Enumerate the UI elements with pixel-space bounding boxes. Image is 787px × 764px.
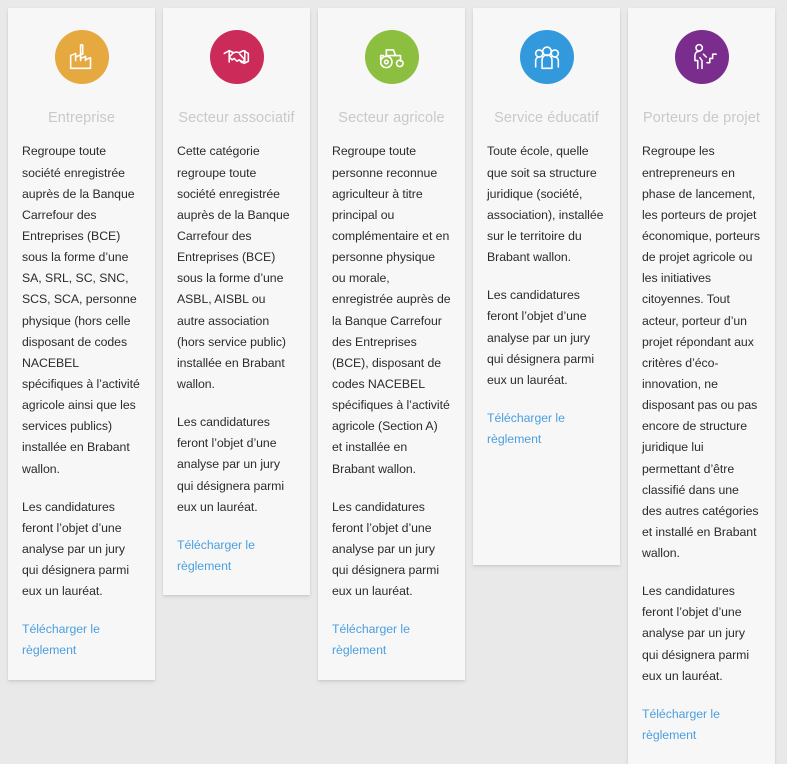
factory-icon bbox=[55, 30, 109, 84]
card-title: Service éducatif bbox=[487, 110, 606, 127]
download-reglement-link[interactable]: Télécharger le règlement bbox=[177, 535, 296, 577]
card-paragraph: Toute école, quelle que soit sa structur… bbox=[487, 141, 606, 268]
person-stairs-icon bbox=[675, 30, 729, 84]
tractor-icon bbox=[365, 30, 419, 84]
category-cards-container: EntrepriseRegroupe toute société enregis… bbox=[0, 0, 787, 764]
card-title: Secteur agricole bbox=[332, 110, 451, 127]
card-paragraph: Les candidatures feront l’objet d’une an… bbox=[177, 412, 296, 518]
download-reglement-link[interactable]: Télécharger le règlement bbox=[332, 619, 451, 661]
card-body: Regroupe les entrepreneurs en phase de l… bbox=[642, 141, 761, 704]
category-card: Secteur associatifCette catégorie regrou… bbox=[163, 8, 310, 595]
card-paragraph: Les candidatures feront l’objet d’une an… bbox=[642, 581, 761, 687]
card-paragraph: Les candidatures feront l’objet d’une an… bbox=[487, 285, 606, 391]
download-reglement-link[interactable]: Télécharger le règlement bbox=[642, 704, 761, 746]
category-card: Porteurs de projetRegroupe les entrepren… bbox=[628, 8, 775, 764]
card-icon-wrapper bbox=[642, 30, 761, 84]
handshake-icon bbox=[210, 30, 264, 84]
card-body: Toute école, quelle que soit sa structur… bbox=[487, 141, 606, 408]
card-icon-wrapper bbox=[177, 30, 296, 84]
card-icon-wrapper bbox=[332, 30, 451, 84]
card-title: Secteur associatif bbox=[177, 110, 296, 127]
category-card: Service éducatifToute école, quelle que … bbox=[473, 8, 620, 565]
card-title: Porteurs de projet bbox=[642, 110, 761, 127]
card-paragraph: Cette catégorie regroupe toute société e… bbox=[177, 141, 296, 395]
download-reglement-link[interactable]: Télécharger le règlement bbox=[22, 619, 141, 661]
category-card: Secteur agricoleRegroupe toute personne … bbox=[318, 8, 465, 680]
card-title: Entreprise bbox=[22, 110, 141, 127]
card-paragraph: Regroupe toute personne reconnue agricul… bbox=[332, 141, 451, 479]
group-people-icon bbox=[520, 30, 574, 84]
card-body: Regroupe toute personne reconnue agricul… bbox=[332, 141, 451, 619]
card-paragraph: Les candidatures feront l’objet d’une an… bbox=[22, 497, 141, 603]
card-icon-wrapper bbox=[487, 30, 606, 84]
card-body: Cette catégorie regroupe toute société e… bbox=[177, 141, 296, 534]
card-icon-wrapper bbox=[22, 30, 141, 84]
card-paragraph: Regroupe les entrepreneurs en phase de l… bbox=[642, 141, 761, 564]
card-body: Regroupe toute société enregistrée auprè… bbox=[22, 141, 141, 619]
download-reglement-link[interactable]: Télécharger le règlement bbox=[487, 408, 606, 450]
card-paragraph: Regroupe toute société enregistrée auprè… bbox=[22, 141, 141, 479]
category-card: EntrepriseRegroupe toute société enregis… bbox=[8, 8, 155, 680]
card-paragraph: Les candidatures feront l’objet d’une an… bbox=[332, 497, 451, 603]
